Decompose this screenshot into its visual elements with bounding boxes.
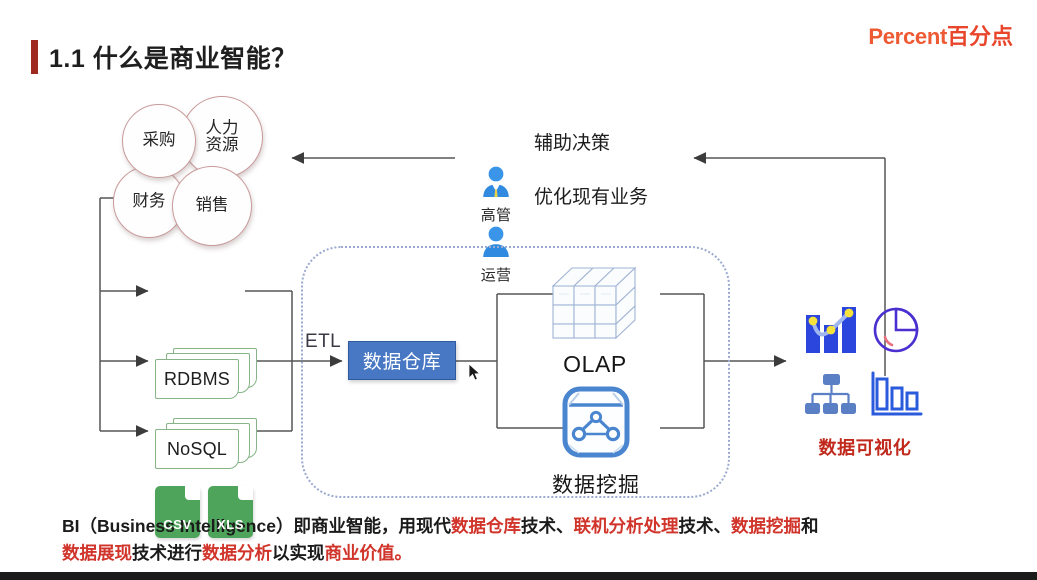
source-circle-sales[interactable]: 销售 xyxy=(172,166,252,246)
caption-l2-h2: 数据分析 xyxy=(202,543,272,563)
source-circle-sales-label: 销售 xyxy=(196,197,229,214)
role-executive-label: 高管 xyxy=(468,204,524,225)
caption-l1-h2: 联机分析处理 xyxy=(573,516,678,536)
role-executive[interactable]: 高管 xyxy=(468,166,524,225)
analytics-node-olap-label: OLAP xyxy=(525,351,665,378)
source-circle-procurement-label: 采购 xyxy=(143,132,176,149)
diagram-canvas: 人力资源 采购 财务 销售 高管 辅助决策 运营 优化现有业务 RDBMS xyxy=(0,78,1037,508)
brand-logo-cn: 百分点 xyxy=(947,24,1013,49)
caption-l2-h1: 数据展现 xyxy=(62,543,132,563)
bottom-chrome-strip xyxy=(0,572,1037,580)
viz-cell-pie[interactable] xyxy=(866,298,928,360)
caption-l1-b: 技术、 xyxy=(521,516,574,536)
column-chart-icon xyxy=(871,371,923,419)
caption-l1-a: BI（Business Intelligence）即商业智能，用现代 xyxy=(62,516,451,536)
source-circle-procurement[interactable]: 采购 xyxy=(122,104,196,178)
title-accent-bar xyxy=(31,40,38,74)
role-executive-outcome: 辅助决策 xyxy=(534,128,610,155)
source-circle-finance-label: 财务 xyxy=(133,193,166,210)
bar-line-chart-icon xyxy=(803,303,859,355)
caption-text: BI（Business Intelligence）即商业智能，用现代数据仓库技术… xyxy=(62,513,962,567)
analytics-node-olap[interactable]: OLAP xyxy=(525,258,665,378)
node-graph-box-icon xyxy=(557,383,635,463)
executive-person-icon xyxy=(479,166,513,198)
caption-l1-h1: 数据仓库 xyxy=(451,516,521,536)
slide-header: 1.1 什么是商业智能？ Percent百分点 xyxy=(0,0,1037,90)
doc-sheet-front: NoSQL xyxy=(155,429,239,469)
visualization-cluster[interactable]: 数据可视化 xyxy=(800,298,930,460)
data-source-rdbms-label: RDBMS xyxy=(164,369,230,390)
caption-line-2: 数据展现技术进行数据分析以实现商业价值。 xyxy=(62,540,962,567)
data-source-rdbms[interactable]: RDBMS xyxy=(155,348,257,400)
caption-l2-h3: 商业价值。 xyxy=(325,543,413,563)
page-title: 1.1 什么是商业智能？ xyxy=(49,39,297,75)
viz-cell-bar-line[interactable] xyxy=(800,298,862,360)
mouse-cursor-icon xyxy=(468,363,481,381)
brand-logo: Percent百分点 xyxy=(868,19,1013,51)
analytics-node-data-mining[interactable]: 数据挖掘 xyxy=(528,383,664,499)
doc-sheet-front: RDBMS xyxy=(155,359,239,399)
org-tree-chart-icon xyxy=(803,373,859,417)
cube-icon xyxy=(539,258,651,344)
role-operations-outcome: 优化现有业务 xyxy=(534,182,648,209)
brand-logo-en: Percent xyxy=(868,24,947,49)
analytics-node-data-mining-label: 数据挖掘 xyxy=(528,469,664,499)
caption-l1-h3: 数据挖掘 xyxy=(731,516,801,536)
caption-l2-a: 技术进行 xyxy=(132,543,202,563)
viz-cell-org-tree[interactable] xyxy=(800,364,862,426)
caption-l1-c: 技术、 xyxy=(678,516,731,536)
pie-chart-icon xyxy=(871,303,923,355)
data-source-nosql[interactable]: NoSQL xyxy=(155,418,257,470)
caption-l2-b: 以实现 xyxy=(272,543,325,563)
data-warehouse-box[interactable]: 数据仓库 xyxy=(348,341,456,380)
visualization-label: 数据可视化 xyxy=(800,434,930,460)
data-source-xls-label: XLS xyxy=(217,517,244,532)
viz-cell-column[interactable] xyxy=(866,364,928,426)
data-warehouse-label: 数据仓库 xyxy=(363,347,441,374)
source-circle-hr-label: 人力资源 xyxy=(206,120,239,155)
data-source-nosql-label: NoSQL xyxy=(167,439,227,460)
visualization-icon-grid xyxy=(800,298,930,426)
data-source-csv-label: CSV xyxy=(163,517,192,532)
caption-line-1: BI（Business Intelligence）即商业智能，用现代数据仓库技术… xyxy=(62,513,962,540)
caption-l1-d: 和 xyxy=(801,516,819,536)
etl-label: ETL xyxy=(305,331,341,353)
